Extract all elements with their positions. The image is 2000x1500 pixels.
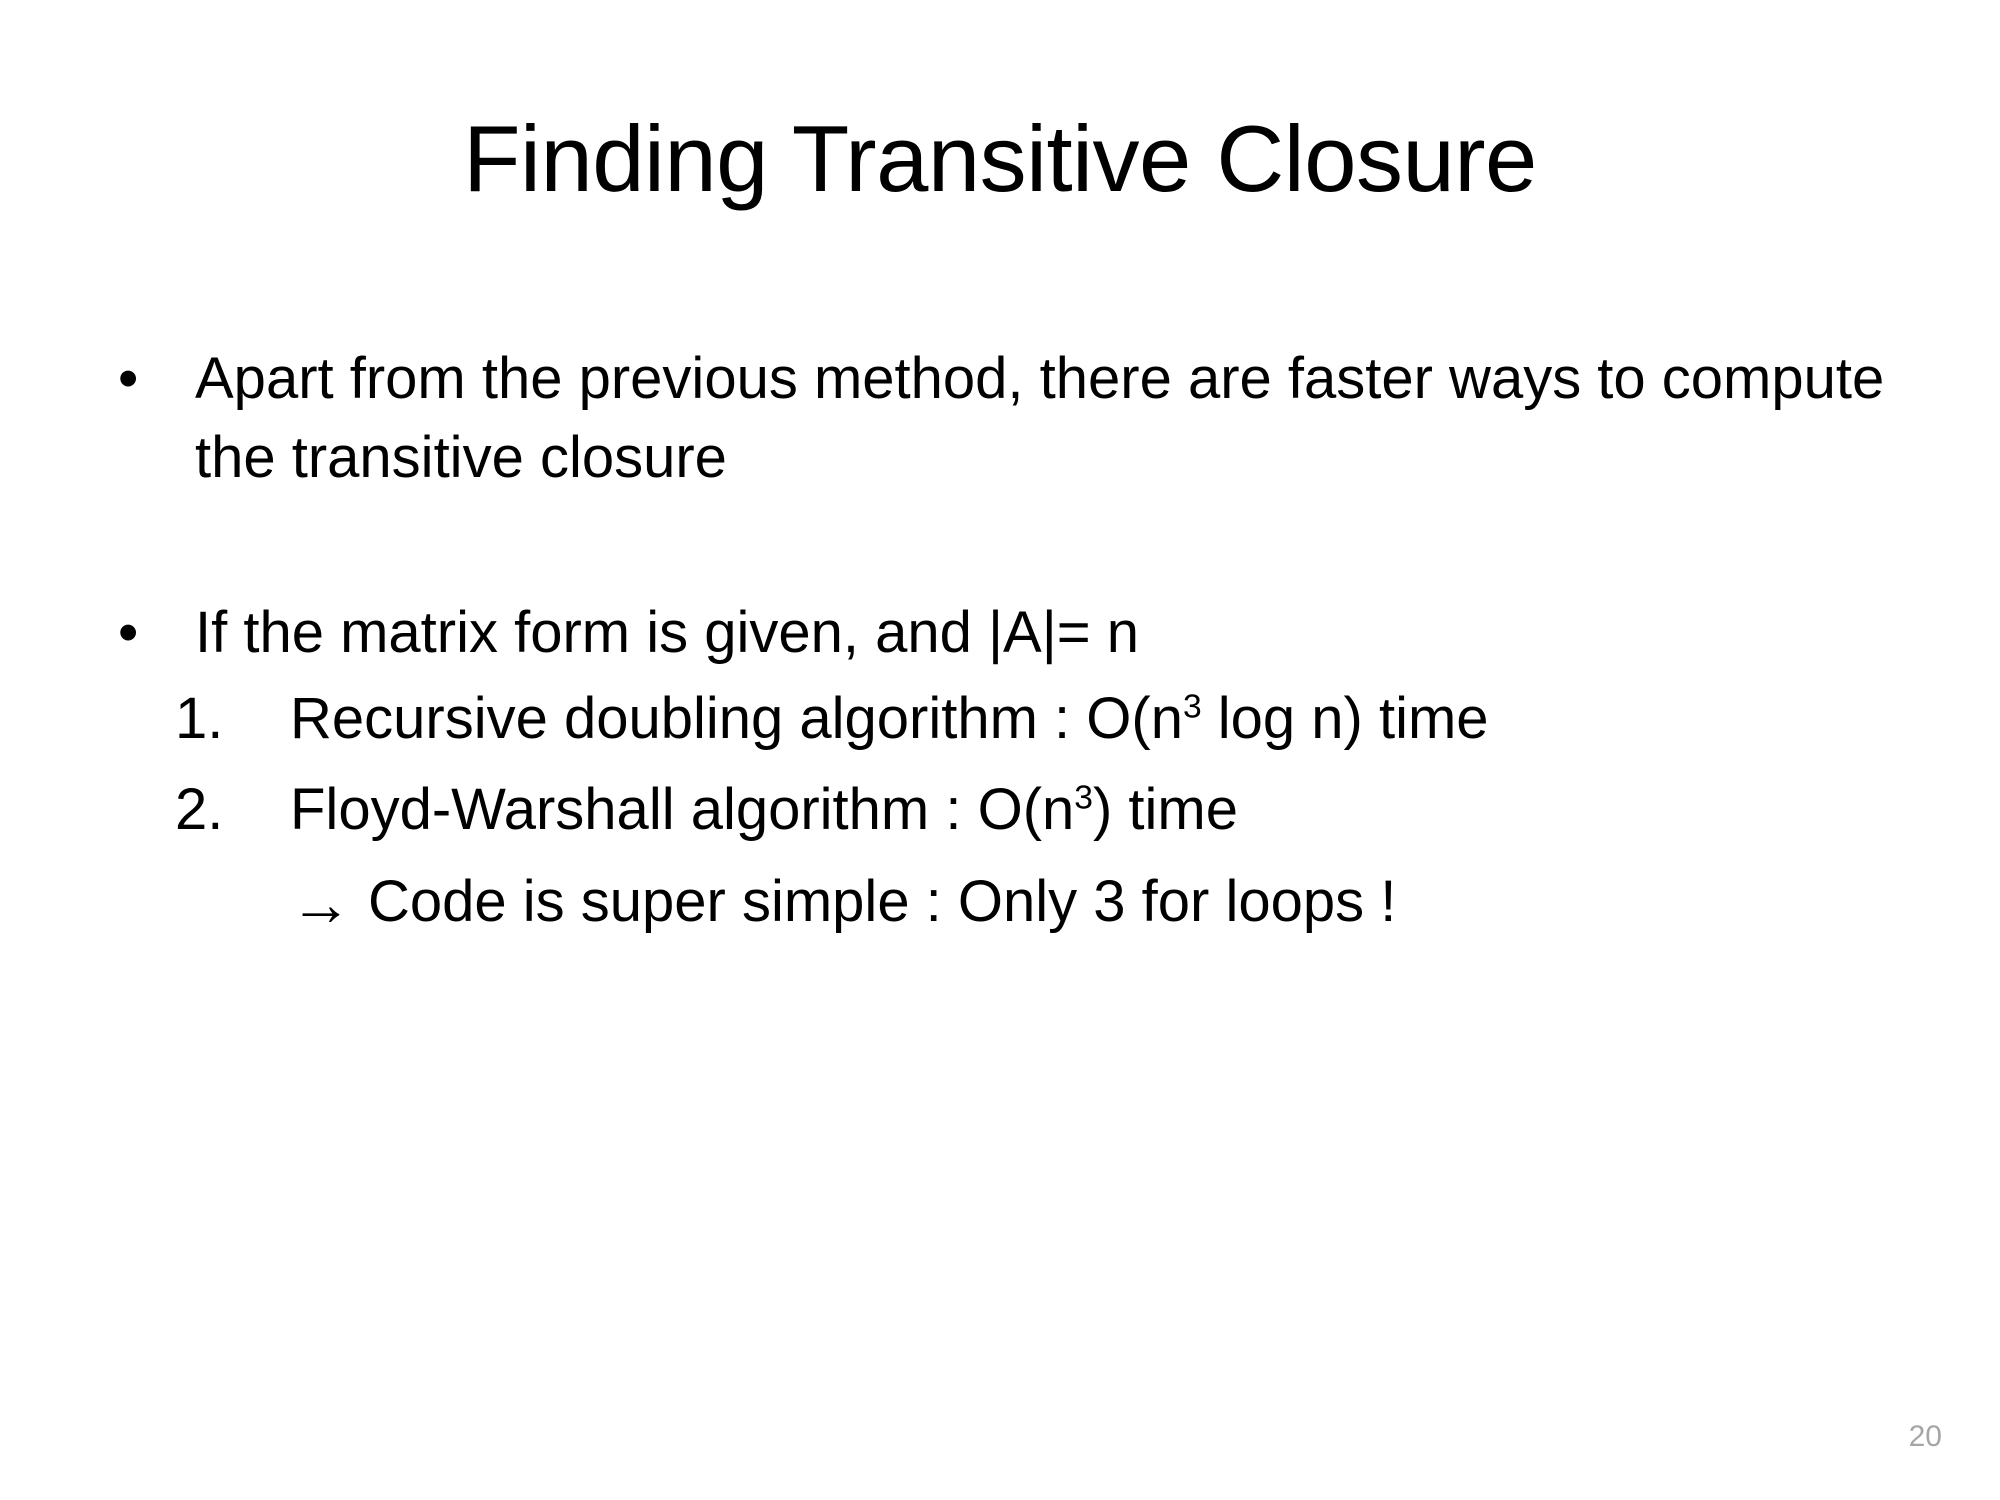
numbered-item-1-number: 1. [175,673,265,765]
arrow-note-text: Code is super simple : Only 3 for loops … [368,869,1396,934]
bullet-item-1: • Apart from the previous method, there … [110,340,1910,498]
slide-page-number: 20 [1909,1422,1942,1452]
bullet-dot-icon: • [118,340,138,419]
numbered-item-2-text-before: Floyd-Warshall algorithm : O(n [290,777,1074,842]
bullet-dot-icon: • [118,594,138,673]
numbered-item-2-exponent: 3 [1074,780,1093,817]
numbered-item-1-exponent: 3 [1183,688,1202,725]
arrow-note-line: →Code is super simple : Only 3 for loops… [110,856,1910,948]
numbered-item-2-text: Floyd-Warshall algorithm : O(n3) time [290,777,1238,842]
numbered-item-1-text-before: Recursive doubling algorithm : O(n [290,686,1183,751]
numbered-item-2-text-after: ) time [1093,777,1238,842]
numbered-item-1: 1. Recursive doubling algorithm : O(n3 l… [110,673,1910,765]
paragraph-spacer [110,498,1910,594]
slide-body: • Apart from the previous method, there … [110,340,1910,948]
page-title: Finding Transitive Closure [0,112,2000,206]
bullet-item-1-text: Apart from the previous method, there ar… [195,346,1884,490]
right-arrow-icon: → [290,874,368,936]
numbered-item-2-number: 2. [175,764,265,856]
numbered-item-1-text: Recursive doubling algorithm : O(n3 log … [290,686,1489,751]
numbered-item-2: 2. Floyd-Warshall algorithm : O(n3) time [110,764,1910,856]
bullet-item-2: • If the matrix form is given, and |A|= … [110,594,1910,673]
numbered-item-1-text-after: log n) time [1202,686,1489,751]
bullet-item-2-text: If the matrix form is given, and |A|= n [195,600,1139,665]
slide-canvas: Finding Transitive Closure • Apart from … [0,0,2000,1500]
